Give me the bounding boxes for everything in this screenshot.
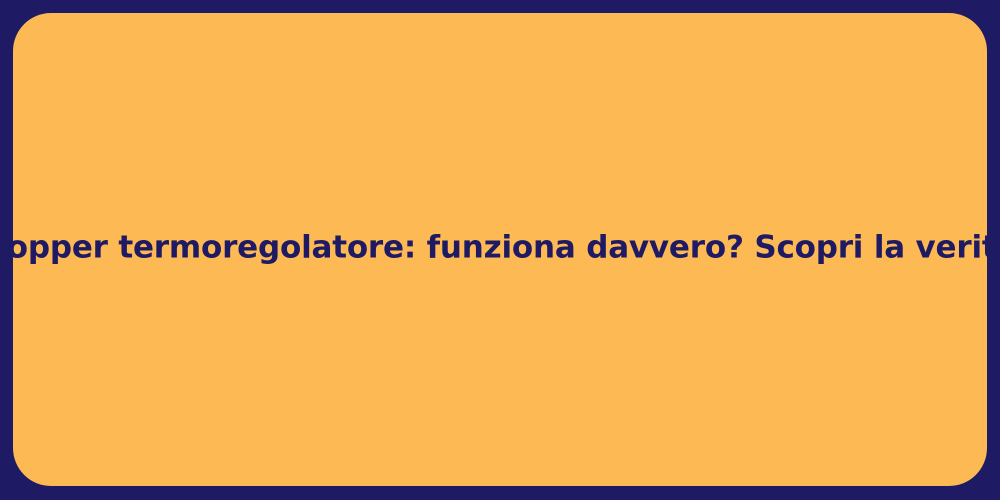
orange-banner-card: Toopper termoregolatore: funziona davver…	[13, 13, 987, 486]
banner-headline: Toopper termoregolatore: funziona davver…	[0, 228, 1000, 267]
headline-container: Toopper termoregolatore: funziona davver…	[13, 228, 987, 267]
outer-navy-border: Toopper termoregolatore: funziona davver…	[0, 0, 1000, 500]
banner-screenshot: Toopper termoregolatore: funziona davver…	[0, 0, 1000, 500]
